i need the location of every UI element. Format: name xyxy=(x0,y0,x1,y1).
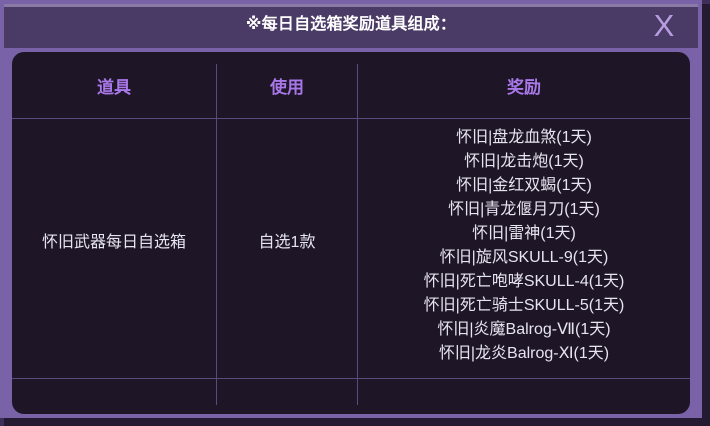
list-item: 怀旧|旋风SKULL-9(1天) xyxy=(358,246,690,270)
list-item: 怀旧|龙炎Balrog-Ⅺ(1天) xyxy=(358,342,690,366)
close-icon[interactable]: X xyxy=(644,6,684,48)
list-item: 怀旧|青龙偃月刀(1天) xyxy=(358,198,690,222)
list-item: 怀旧|金红双蝎(1天) xyxy=(358,174,690,198)
reward-list: 怀旧|盘龙血煞(1天) 怀旧|龙击炮(1天) 怀旧|金红双蝎(1天) 怀旧|青龙… xyxy=(358,126,690,366)
dialog-title: ※每日自选箱奖励道具组成： xyxy=(4,4,698,48)
list-item: 怀旧|死亡骑士SKULL-5(1天) xyxy=(358,294,690,318)
list-item: 怀旧|雷神(1天) xyxy=(358,222,690,246)
table-cell-item-name: 怀旧武器每日自选箱 xyxy=(12,232,216,254)
reward-info-dialog: ※每日自选箱奖励道具组成： X 道具 使用 奖励 怀旧武器每日自选箱 自选1款 … xyxy=(0,0,710,426)
list-item: 怀旧|盘龙血煞(1天) xyxy=(358,126,690,150)
reward-table: 道具 使用 奖励 怀旧武器每日自选箱 自选1款 怀旧|盘龙血煞(1天) 怀旧|龙… xyxy=(12,52,690,414)
list-item: 怀旧|龙击炮(1天) xyxy=(358,150,690,174)
row-divider xyxy=(12,378,690,379)
column-header-reward: 奖励 xyxy=(358,76,690,100)
column-header-use: 使用 xyxy=(217,76,357,100)
list-item: 怀旧|死亡咆哮SKULL-4(1天) xyxy=(358,270,690,294)
column-header-item: 道具 xyxy=(12,76,216,100)
dialog-titlebar: ※每日自选箱奖励道具组成： X xyxy=(4,4,698,48)
header-divider xyxy=(12,118,690,119)
list-item: 怀旧|炎魔Balrog-Ⅶ(1天) xyxy=(358,318,690,342)
table-cell-use: 自选1款 xyxy=(217,232,357,254)
dialog-content: 道具 使用 奖励 怀旧武器每日自选箱 自选1款 怀旧|盘龙血煞(1天) 怀旧|龙… xyxy=(12,52,690,414)
